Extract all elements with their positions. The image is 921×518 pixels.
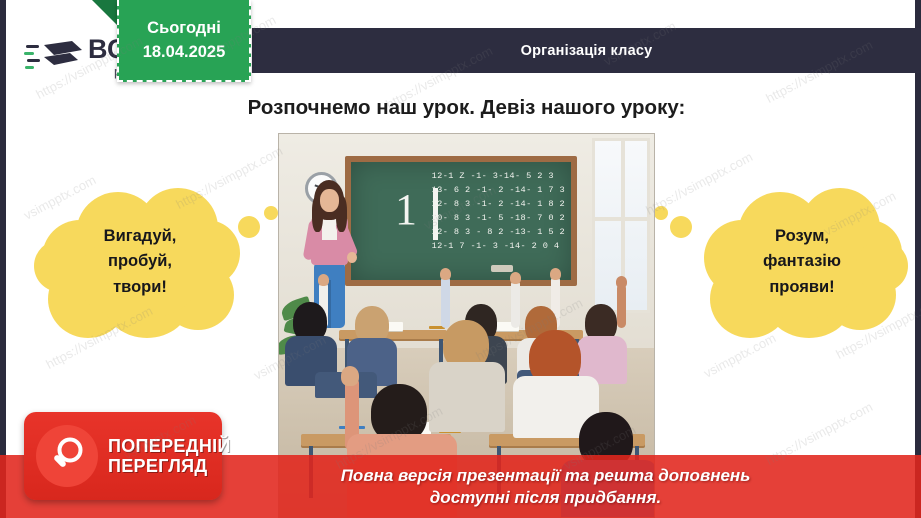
- thought-trail-left-2: [264, 206, 278, 220]
- preview-badge-line1: ПОПЕРЕДНІЙ: [108, 436, 231, 456]
- graduation-cap-icon: [24, 37, 86, 77]
- bubble-right-line2: фантазію: [696, 249, 908, 274]
- bubble-right-line1: Розум,: [696, 224, 908, 249]
- raised-hand: [510, 272, 521, 284]
- thought-trail-right-1: [670, 216, 692, 238]
- date-badge-value: 18.04.2025: [143, 43, 226, 62]
- page-title: Розпочнемо наш урок. Девіз нашого уроку:: [12, 96, 921, 120]
- thought-trail-right-2: [654, 206, 668, 220]
- section-header-bar: Організація класу: [252, 28, 921, 73]
- bubble-right-line3: прояви!: [696, 275, 908, 300]
- slide-body: ВСІМ pptx Організація класу Сьогодні 18.…: [6, 0, 915, 518]
- banner-line2: доступні після придбання.: [341, 487, 751, 509]
- raised-hand: [318, 274, 329, 286]
- raised-hand: [341, 366, 359, 386]
- chalkboard-digit: 1: [395, 184, 417, 235]
- bubble-left-line1: Вигадуй,: [34, 224, 246, 249]
- thought-bubble-right: Розум, фантазію прояви!: [696, 186, 908, 338]
- date-badge: Сьогодні 18.04.2025: [117, 0, 251, 82]
- purchase-notice-text: Повна версія презентації та решта доповн…: [171, 465, 751, 509]
- preview-badge-label: ПОПЕРЕДНІЙ ПЕРЕГЛЯД: [108, 436, 231, 476]
- date-badge-label: Сьогодні: [147, 19, 221, 38]
- section-title: Організація класу: [521, 43, 653, 59]
- thought-bubble-right-text: Розум, фантазію прояви!: [696, 224, 908, 299]
- raised-arm: [441, 276, 450, 328]
- chalk-eraser-icon: [491, 265, 513, 272]
- chalkboard: 1 12-1 Z -1- 3-14- 5 2 3 13- 6 2 -1- 2 -…: [345, 156, 577, 286]
- raised-arm: [511, 280, 520, 328]
- raised-hand: [550, 268, 561, 280]
- raised-hand: [440, 268, 451, 280]
- thought-bubble-left-text: Вигадуй, пробуй, твори!: [34, 224, 246, 299]
- preview-badge-line2: ПЕРЕГЛЯД: [108, 456, 231, 476]
- chalkboard-equations: 12-1 Z -1- 3-14- 5 2 3 13- 6 2 -1- 2 -14…: [432, 170, 565, 254]
- magnifier-icon: [36, 425, 98, 487]
- thought-bubble-left: Вигадуй, пробуй, твори!: [34, 186, 246, 338]
- raised-hand: [616, 276, 627, 288]
- raised-arm: [617, 284, 626, 328]
- preview-badge[interactable]: ПОПЕРЕДНІЙ ПЕРЕГЛЯД: [24, 412, 222, 500]
- bubble-left-line2: пробуй,: [34, 249, 246, 274]
- banner-line1: Повна версія презентації та решта доповн…: [341, 465, 751, 487]
- student-body: [429, 362, 505, 432]
- bubble-left-line3: твори!: [34, 275, 246, 300]
- presentation-slide: ВСІМ pptx Організація класу Сьогодні 18.…: [0, 0, 921, 518]
